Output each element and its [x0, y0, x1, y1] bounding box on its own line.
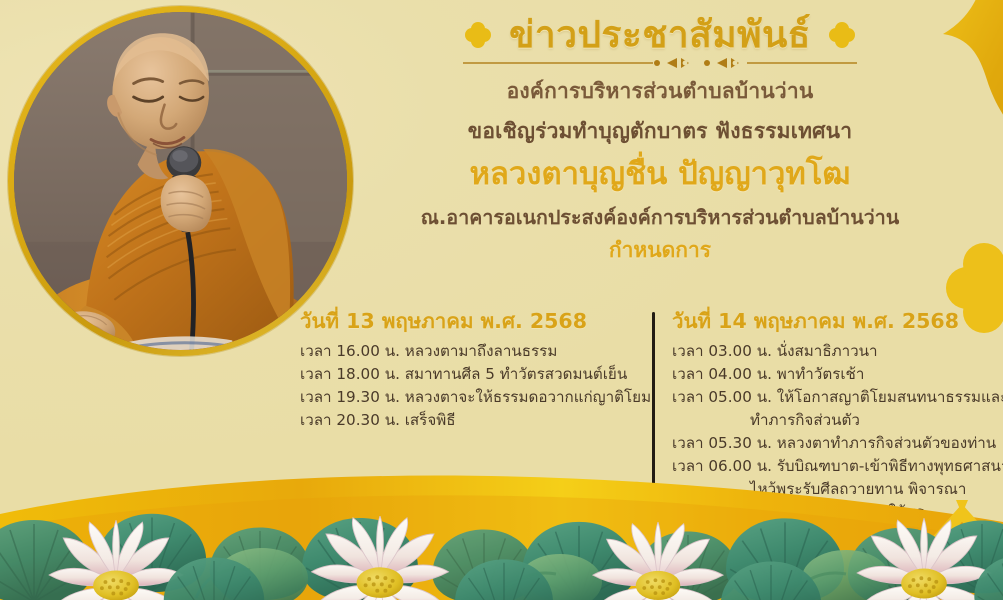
quatrefoil-icon	[463, 20, 493, 50]
monk-name: หลวงตาบุญชื่น ปัญญาวุทโฒ	[360, 154, 960, 196]
event-list: เวลา 03.00 น. นั่งสมาธิภาวนา เวลา 04.00 …	[672, 340, 1000, 525]
organization-name: องค์การบริหารส่วนตำบลบ้านว่าน	[360, 76, 960, 106]
schedule-column-day2: วันที่ 14 พฤษภาคม พ.ศ. 2568 เวลา 03.00 น…	[652, 308, 1000, 524]
schedule-section: วันที่ 13 พฤษภาคม พ.ศ. 2568 เวลา 16.00 น…	[300, 308, 1000, 524]
date-heading: วันที่ 14 พฤษภาคม พ.ศ. 2568	[672, 308, 1000, 335]
list-item: เวลา 03.00 น. นั่งสมาธิภาวนา	[672, 340, 1000, 363]
list-item: เวลา 05.30 น. หลวงตาทำภารกิจส่วนตัวของท่…	[672, 432, 1000, 455]
avatar	[14, 12, 347, 350]
quatrefoil-icon	[827, 20, 857, 50]
event-list: เวลา 16.00 น. หลวงตามาถึงลานธรรม เวลา 18…	[300, 340, 636, 432]
page-title: ข่าวประชาสัมพันธ์	[509, 14, 811, 55]
agenda-heading: กำหนดการ	[360, 236, 960, 265]
list-item: เวลา 19.30 น. หลวงตาจะให้ธรรมดอวากแก่ญาต…	[300, 386, 636, 409]
poster-canvas: ข่าวประชาสัมพันธ์	[0, 0, 1003, 600]
title-row: ข่าวประชาสัมพันธ์	[360, 14, 960, 55]
list-item-continuation: อาหาร อนุโมทนาบุญให้พร	[672, 501, 1000, 524]
venue-line: ณ.อาคารอเนกประสงค์องค์การบริหารส่วนตำบลบ…	[360, 203, 960, 232]
monk-portrait-frame	[8, 6, 353, 356]
schedule-column-day1: วันที่ 13 พฤษภาคม พ.ศ. 2568 เวลา 16.00 น…	[300, 308, 652, 524]
list-item-continuation: ไหว้พระรับศีลถวายทาน พิจารณา	[672, 478, 1000, 501]
list-item: เวลา 20.30 น. เสร็จพิธี	[300, 409, 636, 432]
list-item: เวลา 05.00 น. ให้โอกาสญาติโยมสนทนาธรรมแล…	[672, 386, 1000, 409]
date-heading: วันที่ 13 พฤษภาคม พ.ศ. 2568	[300, 308, 636, 335]
invitation-line: ขอเชิญร่วมทำบุญตักบาตร ฟังธรรมเทศนา	[360, 116, 960, 148]
diamond-divider-ornament	[360, 56, 960, 70]
list-item: เวลา 04.00 น. พาทำวัตรเช้า	[672, 363, 1000, 386]
list-item: เวลา 18.00 น. สมาทานศีล 5 ทำวัตรสวดมนต์เ…	[300, 363, 636, 386]
list-item: เวลา 06.00 น. รับบิณฑบาต-เข้าพิธีทางพุทธ…	[672, 455, 1000, 478]
list-item-continuation: ทำภารกิจส่วนตัว	[672, 409, 1000, 432]
poster-header: ข่าวประชาสัมพันธ์	[360, 14, 960, 266]
list-item: เวลา 16.00 น. หลวงตามาถึงลานธรรม	[300, 340, 636, 363]
